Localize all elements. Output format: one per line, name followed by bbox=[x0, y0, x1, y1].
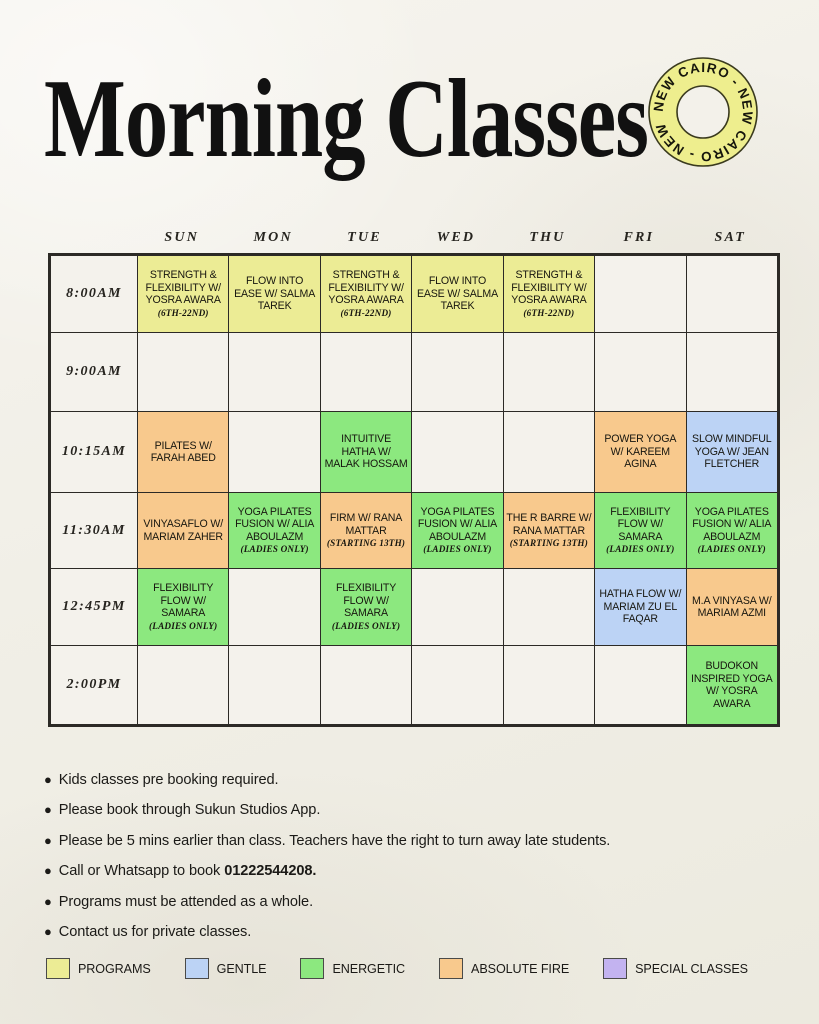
empty-cell bbox=[595, 256, 686, 333]
class-title: FLEXIBILITY FLOW W/ SAMARA bbox=[140, 582, 226, 620]
class-cell[interactable]: PILATES W/ FARAH ABED bbox=[138, 412, 229, 493]
note-phone: 01222544208. bbox=[224, 863, 316, 879]
class-block: INTUITIVE HATHA W/ MALAK HOSSAM bbox=[321, 412, 411, 492]
class-title: STRENGTH & FLEXIBILITY W/ YOSRA AWARA bbox=[140, 269, 226, 307]
class-note: (LADIES ONLY) bbox=[149, 621, 217, 632]
empty-cell bbox=[686, 333, 777, 412]
class-block bbox=[504, 412, 594, 492]
legend-label: ENERGETIC bbox=[332, 962, 405, 976]
class-title: PILATES W/ FARAH ABED bbox=[140, 440, 226, 465]
class-block bbox=[504, 569, 594, 645]
class-block bbox=[412, 646, 502, 724]
class-block: FLOW INTO EASE W/ SALMA TAREK bbox=[229, 256, 319, 332]
class-block bbox=[412, 333, 502, 411]
poster-header: Morning Classes NEW CAIRO - NEW CAIRO - … bbox=[44, 56, 779, 186]
class-block: YOGA PILATES FUSION W/ ALIA ABOULAZM(LAD… bbox=[687, 493, 777, 568]
class-block: THE R BARRE W/ RANA MATTAR(STARTING 13TH… bbox=[504, 493, 594, 568]
schedule-row: 8:00AMSTRENGTH & FLEXIBILITY W/ YOSRA AW… bbox=[51, 256, 778, 333]
bullet-icon: ● bbox=[44, 773, 52, 786]
day-header-mon: MON bbox=[227, 230, 318, 252]
empty-cell bbox=[320, 333, 411, 412]
class-title: YOGA PILATES FUSION W/ ALIA ABOULAZM bbox=[414, 506, 500, 544]
class-title: YOGA PILATES FUSION W/ ALIA ABOULAZM bbox=[689, 506, 775, 544]
schedule-grid: 8:00AMSTRENGTH & FLEXIBILITY W/ YOSRA AW… bbox=[48, 253, 780, 727]
class-cell[interactable]: BUDOKON INSPIRED YOGA W/ YOSRA AWARA bbox=[686, 646, 777, 725]
schedule-row: 2:00PMBUDOKON INSPIRED YOGA W/ YOSRA AWA… bbox=[51, 646, 778, 725]
empty-cell bbox=[686, 256, 777, 333]
class-note: (6TH-22ND) bbox=[158, 308, 209, 319]
note-item: ●Please be 5 mins earlier than class. Te… bbox=[44, 831, 774, 853]
class-note: (LADIES ONLY) bbox=[606, 544, 674, 555]
legend-item-energetic: ENERGETIC bbox=[300, 958, 405, 979]
class-block bbox=[595, 333, 685, 411]
class-title: STRENGTH & FLEXIBILITY W/ YOSRA AWARA bbox=[323, 269, 409, 307]
legend-swatch bbox=[185, 958, 209, 979]
class-note: (LADIES ONLY) bbox=[240, 544, 308, 555]
time-label: 11:30AM bbox=[51, 493, 138, 569]
class-block: STRENGTH & FLEXIBILITY W/ YOSRA AWARA(6T… bbox=[504, 256, 594, 332]
class-block bbox=[138, 333, 228, 411]
note-text: Please be 5 mins earlier than class. Tea… bbox=[59, 831, 610, 853]
class-cell[interactable]: FLEXIBILITY FLOW W/ SAMARA(LADIES ONLY) bbox=[595, 493, 686, 569]
class-cell[interactable]: SLOW MINDFUL YOGA W/ JEAN FLETCHER bbox=[686, 412, 777, 493]
note-text: Kids classes pre booking required. bbox=[59, 770, 279, 792]
note-item: ●Contact us for private classes. bbox=[44, 922, 774, 944]
note-text: Programs must be attended as a whole. bbox=[59, 892, 313, 914]
class-block: HATHA FLOW W/ MARIAM ZU EL FAQAR bbox=[595, 569, 685, 645]
class-block: FLEXIBILITY FLOW W/ SAMARA(LADIES ONLY) bbox=[321, 569, 411, 645]
class-block bbox=[229, 646, 319, 724]
empty-cell bbox=[595, 646, 686, 725]
time-label: 10:15AM bbox=[51, 412, 138, 493]
legend-swatch bbox=[603, 958, 627, 979]
class-note: (LADIES ONLY) bbox=[423, 544, 491, 555]
empty-cell bbox=[503, 569, 594, 646]
bullet-icon: ● bbox=[44, 864, 52, 877]
legend-item-special-classes: SPECIAL CLASSES bbox=[603, 958, 748, 979]
class-block: FLEXIBILITY FLOW W/ SAMARA(LADIES ONLY) bbox=[595, 493, 685, 568]
legend-label: GENTLE bbox=[217, 962, 267, 976]
note-item: ●Programs must be attended as a whole. bbox=[44, 892, 774, 914]
note-item: ●Kids classes pre booking required. bbox=[44, 770, 774, 792]
class-cell[interactable]: STRENGTH & FLEXIBILITY W/ YOSRA AWARA(6T… bbox=[320, 256, 411, 333]
time-label: 8:00AM bbox=[51, 256, 138, 333]
note-text: Please book through Sukun Studios App. bbox=[59, 800, 321, 822]
schedule-row: 10:15AMPILATES W/ FARAH ABEDINTUITIVE HA… bbox=[51, 412, 778, 493]
class-cell[interactable]: FIRM W/ RANA MATTAR(STARTING 13TH) bbox=[320, 493, 411, 569]
class-block bbox=[504, 333, 594, 411]
class-title: M.A VINYASA W/ MARIAM AZMI bbox=[689, 595, 775, 620]
class-cell[interactable]: FLOW INTO EASE W/ SALMA TAREK bbox=[229, 256, 320, 333]
schedule-poster: Morning Classes NEW CAIRO - NEW CAIRO - … bbox=[0, 0, 819, 1024]
day-header-row: SUN MON TUE WED THU FRI SAT bbox=[48, 230, 776, 252]
class-block: STRENGTH & FLEXIBILITY W/ YOSRA AWARA(6T… bbox=[321, 256, 411, 332]
class-title: INTUITIVE HATHA W/ MALAK HOSSAM bbox=[323, 433, 409, 471]
class-title: VINYASAFLO W/ MARIAM ZAHER bbox=[140, 518, 226, 543]
class-cell[interactable]: HATHA FLOW W/ MARIAM ZU EL FAQAR bbox=[595, 569, 686, 646]
class-cell[interactable]: STRENGTH & FLEXIBILITY W/ YOSRA AWARA(6T… bbox=[138, 256, 229, 333]
legend-swatch bbox=[439, 958, 463, 979]
legend-item-programs: PROGRAMS bbox=[46, 958, 151, 979]
empty-cell bbox=[412, 646, 503, 725]
legend: PROGRAMSGENTLEENERGETICABSOLUTE FIRESPEC… bbox=[46, 958, 786, 979]
class-block bbox=[229, 412, 319, 492]
class-cell[interactable]: STRENGTH & FLEXIBILITY W/ YOSRA AWARA(6T… bbox=[503, 256, 594, 333]
class-cell[interactable]: M.A VINYASA W/ MARIAM AZMI bbox=[686, 569, 777, 646]
empty-cell bbox=[503, 333, 594, 412]
day-header-spacer bbox=[48, 230, 136, 252]
page-title: Morning Classes bbox=[44, 64, 648, 177]
empty-cell bbox=[503, 646, 594, 725]
class-block bbox=[595, 256, 685, 332]
class-title: BUDOKON INSPIRED YOGA W/ YOSRA AWARA bbox=[689, 660, 775, 710]
day-header-thu: THU bbox=[502, 230, 593, 252]
class-block: FLEXIBILITY FLOW W/ SAMARA(LADIES ONLY) bbox=[138, 569, 228, 645]
class-block bbox=[229, 333, 319, 411]
class-note: (LADIES ONLY) bbox=[332, 621, 400, 632]
legend-item-absolute-fire: ABSOLUTE FIRE bbox=[439, 958, 569, 979]
class-title: FLOW INTO EASE W/ SALMA TAREK bbox=[231, 275, 317, 313]
class-block: VINYASAFLO W/ MARIAM ZAHER bbox=[138, 493, 228, 568]
class-cell[interactable]: THE R BARRE W/ RANA MATTAR(STARTING 13TH… bbox=[503, 493, 594, 569]
empty-cell bbox=[320, 646, 411, 725]
schedule-body: 8:00AMSTRENGTH & FLEXIBILITY W/ YOSRA AW… bbox=[51, 256, 778, 725]
class-block bbox=[687, 256, 777, 332]
class-block bbox=[138, 646, 228, 724]
empty-cell bbox=[138, 333, 229, 412]
class-note: (LADIES ONLY) bbox=[698, 544, 766, 555]
class-block: STRENGTH & FLEXIBILITY W/ YOSRA AWARA(6T… bbox=[138, 256, 228, 332]
class-block bbox=[504, 646, 594, 724]
class-block: SLOW MINDFUL YOGA W/ JEAN FLETCHER bbox=[687, 412, 777, 492]
class-title: FLEXIBILITY FLOW W/ SAMARA bbox=[323, 582, 409, 620]
class-block bbox=[321, 333, 411, 411]
class-cell[interactable]: YOGA PILATES FUSION W/ ALIA ABOULAZM(LAD… bbox=[229, 493, 320, 569]
class-block: YOGA PILATES FUSION W/ ALIA ABOULAZM(LAD… bbox=[412, 493, 502, 568]
bullet-icon: ● bbox=[44, 834, 52, 847]
class-title: FLOW INTO EASE W/ SALMA TAREK bbox=[414, 275, 500, 313]
empty-cell bbox=[229, 569, 320, 646]
day-header-wed: WED bbox=[410, 230, 501, 252]
legend-label: PROGRAMS bbox=[78, 962, 151, 976]
time-label: 9:00AM bbox=[51, 333, 138, 412]
class-note: (6TH-22ND) bbox=[523, 308, 574, 319]
class-block bbox=[595, 646, 685, 724]
class-cell[interactable]: FLOW INTO EASE W/ SALMA TAREK bbox=[412, 256, 503, 333]
time-label: 12:45PM bbox=[51, 569, 138, 646]
class-title: POWER YOGA W/ KAREEM AGINA bbox=[597, 433, 683, 471]
empty-cell bbox=[229, 333, 320, 412]
legend-swatch bbox=[300, 958, 324, 979]
class-note: (STARTING 13TH) bbox=[510, 538, 588, 549]
class-title: FIRM W/ RANA MATTAR bbox=[323, 512, 409, 537]
class-cell[interactable]: FLEXIBILITY FLOW W/ SAMARA(LADIES ONLY) bbox=[320, 569, 411, 646]
schedule-row: 12:45PMFLEXIBILITY FLOW W/ SAMARA(LADIES… bbox=[51, 569, 778, 646]
note-item: ●Please book through Sukun Studios App. bbox=[44, 800, 774, 822]
class-cell[interactable]: FLEXIBILITY FLOW W/ SAMARA(LADIES ONLY) bbox=[138, 569, 229, 646]
empty-cell bbox=[229, 412, 320, 493]
class-title: YOGA PILATES FUSION W/ ALIA ABOULAZM bbox=[231, 506, 317, 544]
schedule-row: 11:30AMVINYASAFLO W/ MARIAM ZAHERYOGA PI… bbox=[51, 493, 778, 569]
legend-swatch bbox=[46, 958, 70, 979]
bullet-icon: ● bbox=[44, 895, 52, 908]
schedule-table: 8:00AMSTRENGTH & FLEXIBILITY W/ YOSRA AW… bbox=[50, 255, 778, 725]
class-cell[interactable]: INTUITIVE HATHA W/ MALAK HOSSAM bbox=[320, 412, 411, 493]
time-label: 2:00PM bbox=[51, 646, 138, 725]
note-item: ●Call or Whatsapp to book 01222544208. bbox=[44, 861, 774, 883]
empty-cell bbox=[229, 646, 320, 725]
class-cell[interactable]: YOGA PILATES FUSION W/ ALIA ABOULAZM(LAD… bbox=[412, 493, 503, 569]
schedule-row: 9:00AM bbox=[51, 333, 778, 412]
empty-cell bbox=[412, 569, 503, 646]
class-title: STRENGTH & FLEXIBILITY W/ YOSRA AWARA bbox=[506, 269, 592, 307]
class-note: (6TH-22ND) bbox=[341, 308, 392, 319]
class-block bbox=[412, 569, 502, 645]
class-title: SLOW MINDFUL YOGA W/ JEAN FLETCHER bbox=[689, 433, 775, 471]
class-block: BUDOKON INSPIRED YOGA W/ YOSRA AWARA bbox=[687, 646, 777, 724]
class-block: M.A VINYASA W/ MARIAM AZMI bbox=[687, 569, 777, 645]
note-text: Call or Whatsapp to book 01222544208. bbox=[59, 861, 317, 883]
day-header-tue: TUE bbox=[319, 230, 410, 252]
day-header-sat: SAT bbox=[685, 230, 776, 252]
class-block bbox=[321, 646, 411, 724]
bullet-icon: ● bbox=[44, 925, 52, 938]
class-title: FLEXIBILITY FLOW W/ SAMARA bbox=[597, 506, 683, 544]
empty-cell bbox=[412, 333, 503, 412]
class-title: THE R BARRE W/ RANA MATTAR bbox=[506, 512, 592, 537]
class-cell[interactable]: POWER YOGA W/ KAREEM AGINA bbox=[595, 412, 686, 493]
class-cell[interactable]: VINYASAFLO W/ MARIAM ZAHER bbox=[138, 493, 229, 569]
class-block bbox=[687, 333, 777, 411]
class-block: YOGA PILATES FUSION W/ ALIA ABOULAZM(LAD… bbox=[229, 493, 319, 568]
notes-list: ●Kids classes pre booking required.●Plea… bbox=[44, 770, 774, 952]
class-note: (STARTING 13TH) bbox=[327, 538, 405, 549]
bullet-icon: ● bbox=[44, 803, 52, 816]
class-block: FLOW INTO EASE W/ SALMA TAREK bbox=[412, 256, 502, 332]
class-block bbox=[229, 569, 319, 645]
class-cell[interactable]: YOGA PILATES FUSION W/ ALIA ABOULAZM(LAD… bbox=[686, 493, 777, 569]
class-block: FIRM W/ RANA MATTAR(STARTING 13TH) bbox=[321, 493, 411, 568]
empty-cell bbox=[138, 646, 229, 725]
legend-item-gentle: GENTLE bbox=[185, 958, 267, 979]
note-text: Contact us for private classes. bbox=[59, 922, 251, 944]
class-title: HATHA FLOW W/ MARIAM ZU EL FAQAR bbox=[597, 588, 683, 626]
legend-label: ABSOLUTE FIRE bbox=[471, 962, 569, 976]
class-block: POWER YOGA W/ KAREEM AGINA bbox=[595, 412, 685, 492]
class-block bbox=[412, 412, 502, 492]
day-header-fri: FRI bbox=[593, 230, 684, 252]
legend-label: SPECIAL CLASSES bbox=[635, 962, 748, 976]
empty-cell bbox=[595, 333, 686, 412]
empty-cell bbox=[412, 412, 503, 493]
new-cairo-badge: NEW CAIRO - NEW CAIRO - NEW CAIRO - bbox=[647, 56, 759, 168]
class-block: PILATES W/ FARAH ABED bbox=[138, 412, 228, 492]
empty-cell bbox=[503, 412, 594, 493]
day-header-sun: SUN bbox=[136, 230, 227, 252]
